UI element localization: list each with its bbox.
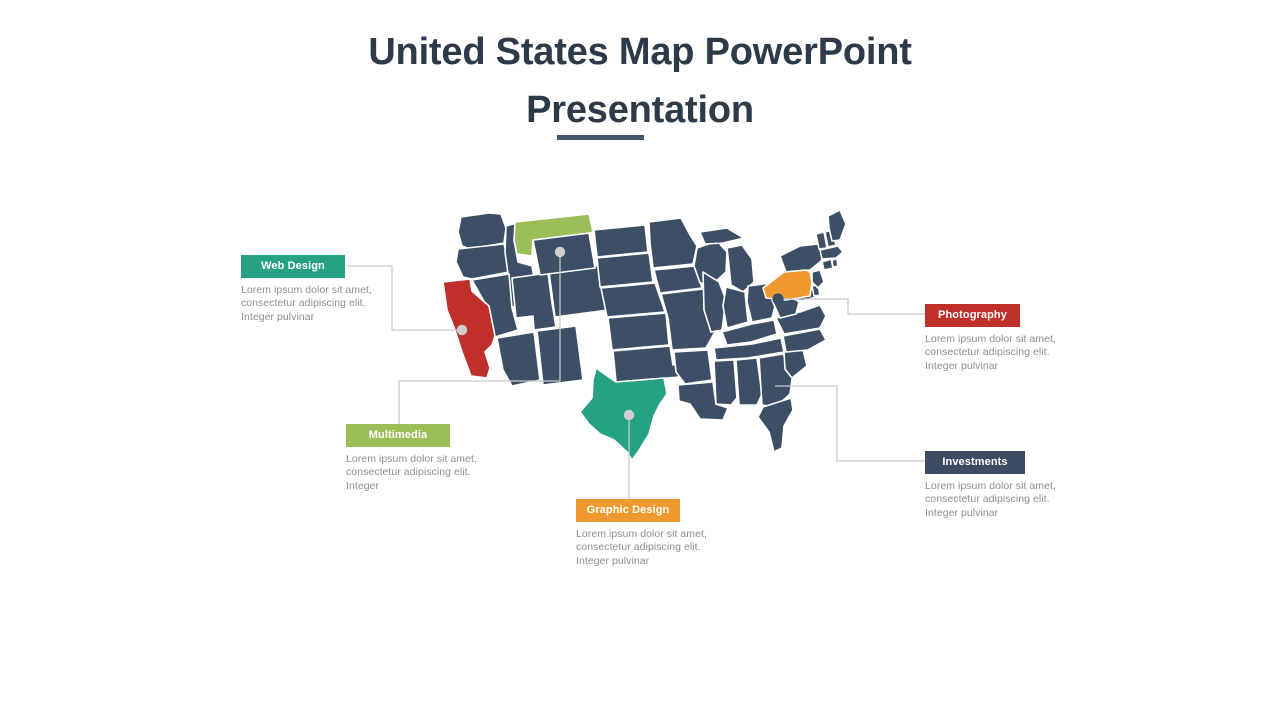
callout-description-photography: Lorem ipsum dolor sit amet, consectetur … (925, 333, 1075, 373)
state-michigan-upper (700, 228, 744, 244)
state-indiana (723, 287, 748, 328)
pin-pennsylvania[interactable] (772, 293, 783, 304)
callout-investments[interactable]: Investments Lorem ipsum dolor sit amet, … (925, 451, 1075, 520)
state-rhode-island (832, 259, 838, 267)
callout-photography[interactable]: Photography Lorem ipsum dolor sit amet, … (925, 304, 1075, 373)
state-mississippi (714, 360, 737, 405)
callout-label-investments[interactable]: Investments (925, 451, 1025, 474)
callout-description-web-design: Lorem ipsum dolor sit amet, consectetur … (241, 284, 391, 324)
callout-description-multimedia: Lorem ipsum dolor sit amet, consectetur … (346, 453, 496, 493)
connector-investments (775, 386, 926, 461)
state-alabama (736, 358, 762, 405)
state-kansas (608, 313, 669, 350)
state-washington (458, 213, 506, 249)
state-texas-highlight[interactable] (580, 368, 667, 460)
united-states-map-svg (0, 0, 1280, 720)
state-arizona (497, 332, 540, 386)
state-minnesota (649, 218, 697, 268)
state-oregon (456, 244, 509, 279)
callout-label-photography[interactable]: Photography (925, 304, 1020, 327)
map-container (0, 0, 1280, 720)
pin-texas[interactable] (624, 410, 634, 420)
state-arkansas (674, 350, 712, 384)
state-north-dakota (594, 225, 648, 257)
pin-california[interactable] (457, 325, 467, 335)
state-nebraska (601, 283, 665, 317)
callout-label-graphic-design[interactable]: Graphic Design (576, 499, 680, 522)
callout-description-investments: Lorem ipsum dolor sit amet, consectetur … (925, 480, 1075, 520)
callout-multimedia[interactable]: Multimedia Lorem ipsum dolor sit amet, c… (346, 424, 496, 493)
state-maine (828, 210, 846, 241)
state-south-dakota (597, 253, 653, 287)
state-florida (758, 398, 793, 452)
callout-graphic-design[interactable]: Graphic Design Lorem ipsum dolor sit ame… (576, 499, 736, 568)
pin-montana[interactable] (555, 247, 565, 257)
callout-label-web-design[interactable]: Web Design (241, 255, 345, 278)
callout-label-multimedia[interactable]: Multimedia (346, 424, 450, 447)
callout-web-design[interactable]: Web Design Lorem ipsum dolor sit amet, c… (241, 255, 391, 324)
callout-description-graphic-design: Lorem ipsum dolor sit amet, consectetur … (576, 528, 736, 568)
state-pennsylvania-highlight[interactable] (763, 270, 812, 300)
state-utah (512, 273, 556, 330)
